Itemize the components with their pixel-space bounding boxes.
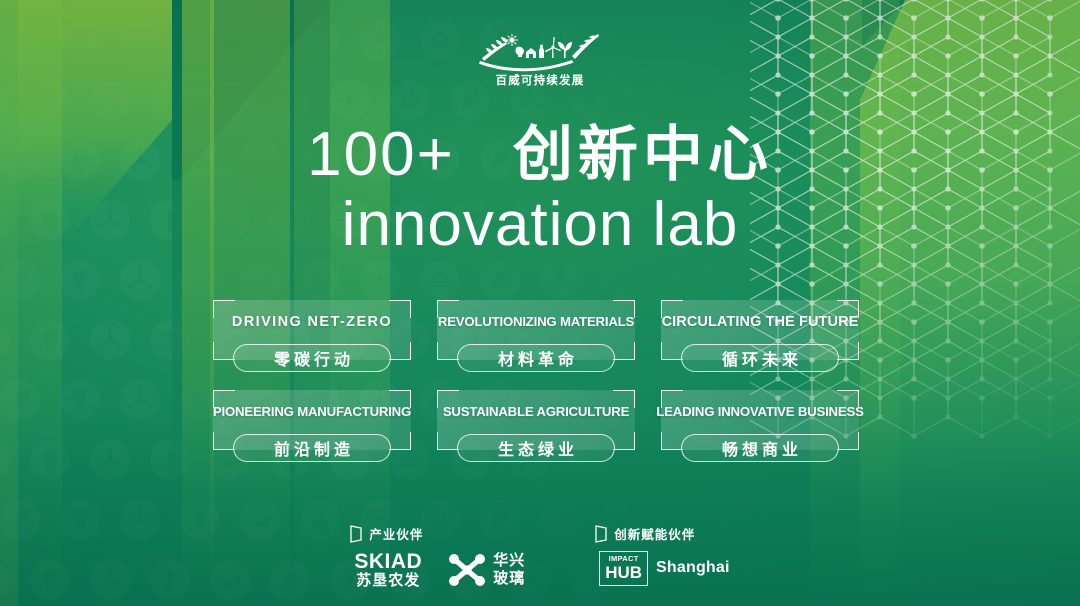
partner-group-header: 创新赋能伙伴 (595, 524, 729, 543)
huaxing-glass-logo[interactable]: 华兴 玻璃 (448, 552, 525, 587)
card-title-cn: 前沿制造 (270, 436, 354, 460)
card-title-cn: 材料革命 (494, 346, 578, 370)
card-title-cn: 生态绿业 (494, 436, 578, 460)
impact-hub-city: Shanghai (656, 559, 730, 577)
card-pill: 材料革命 (457, 344, 615, 372)
card-pill: 循环未来 (681, 344, 839, 372)
headline-cn: 创新中心 (513, 125, 773, 185)
corner-bracket-bl (213, 432, 235, 450)
corner-bracket-br (389, 432, 411, 450)
card-title-en: DRIVING NET-ZERO (205, 314, 419, 330)
brand-name: 百威可持续发展 (465, 75, 615, 87)
partner-group-title: 产业伙伴 (369, 524, 423, 543)
headline: 100+ 创新中心 innovation lab (0, 124, 1080, 257)
huaxing-line-1: 华兴 (493, 551, 525, 569)
partner-group-industry: 产业伙伴 SKIAD 苏垦农发 (350, 524, 525, 588)
skiad-logo[interactable]: SKIAD 苏垦农发 (354, 551, 422, 588)
impact-hub-impact-text: IMPACT (609, 555, 639, 563)
card-title-en: SUSTAINABLE AGRICULTURE (429, 404, 643, 419)
card-sustainable-agriculture[interactable]: SUSTAINABLE AGRICULTURE 生态绿业 (429, 390, 643, 462)
corner-bracket-bl (437, 432, 459, 450)
card-revolutionizing-materials[interactable]: REVOLUTIONIZING MATERIALS 材料革命 (429, 300, 643, 372)
card-pill: 畅想商业 (681, 434, 839, 462)
skiad-logo-en: SKIAD (354, 551, 422, 572)
partner-group-title: 创新赋能伙伴 (614, 524, 695, 543)
card-title-cn: 畅想商业 (718, 436, 802, 460)
card-title-en: CIRCULATING THE FUTURE (653, 314, 867, 330)
partner-group-innovation: 创新赋能伙伴 IMPACT HUB Shanghai (595, 524, 729, 586)
corner-bracket-br (613, 432, 635, 450)
card-pioneering-manufacturing[interactable]: PIONEERING MANUFACTURING 前沿制造 (205, 390, 419, 462)
huaxing-mark-icon (448, 553, 486, 587)
card-driving-net-zero[interactable]: DRIVING NET-ZERO 零碳行动 (205, 300, 419, 372)
impact-hub-hub-text: HUB (605, 564, 642, 581)
partner-logo-row: SKIAD 苏垦农发 (350, 551, 525, 588)
innovation-lab-card-grid: DRIVING NET-ZERO 零碳行动 REVOLUTIONIZING MA… (205, 300, 867, 462)
skiad-logo-cn: 苏垦农发 (356, 573, 420, 588)
partner-group-header: 产业伙伴 (350, 524, 525, 543)
card-pill: 前沿制造 (233, 434, 391, 462)
headline-en: innovation lab (0, 192, 1080, 257)
impact-hub-mark: IMPACT HUB (599, 551, 648, 586)
partner-footer: 产业伙伴 SKIAD 苏垦农发 (0, 524, 1080, 588)
card-title-en: LEADING INNOVATIVE BUSINESS (653, 404, 867, 419)
partner-logo-row: IMPACT HUB Shanghai (595, 551, 729, 586)
poster-canvas: 百威可持续发展 100+ 创新中心 innovation lab DRIVING… (0, 0, 1080, 606)
huaxing-line-2: 玻璃 (493, 569, 525, 587)
flag-bracket-icon (350, 525, 362, 543)
corner-bracket-bl (213, 342, 235, 360)
card-pill: 零碳行动 (233, 344, 391, 372)
card-circulating-the-future[interactable]: CIRCULATING THE FUTURE 循环未来 (653, 300, 867, 372)
corner-bracket-bl (661, 432, 683, 450)
corner-bracket-br (837, 432, 859, 450)
headline-count: 100+ (307, 124, 455, 186)
corner-bracket-br (613, 342, 635, 360)
flag-bracket-icon (595, 525, 607, 543)
card-pill: 生态绿业 (457, 434, 615, 462)
huaxing-logo-text: 华兴 玻璃 (493, 552, 525, 587)
corner-bracket-br (389, 342, 411, 360)
corner-bracket-bl (437, 342, 459, 360)
brand-logo: 百威可持续发展 (465, 28, 615, 87)
card-title-en: REVOLUTIONIZING MATERIALS (429, 314, 643, 329)
card-title-cn: 零碳行动 (270, 346, 354, 370)
wheat-sustainability-emblem-icon (476, 28, 604, 72)
impact-hub-logo[interactable]: IMPACT HUB Shanghai (599, 551, 729, 586)
card-leading-innovative-business[interactable]: LEADING INNOVATIVE BUSINESS 畅想商业 (653, 390, 867, 462)
corner-bracket-bl (661, 342, 683, 360)
card-title-en: PIONEERING MANUFACTURING (205, 404, 419, 419)
corner-bracket-br (837, 342, 859, 360)
card-title-cn: 循环未来 (718, 346, 802, 370)
